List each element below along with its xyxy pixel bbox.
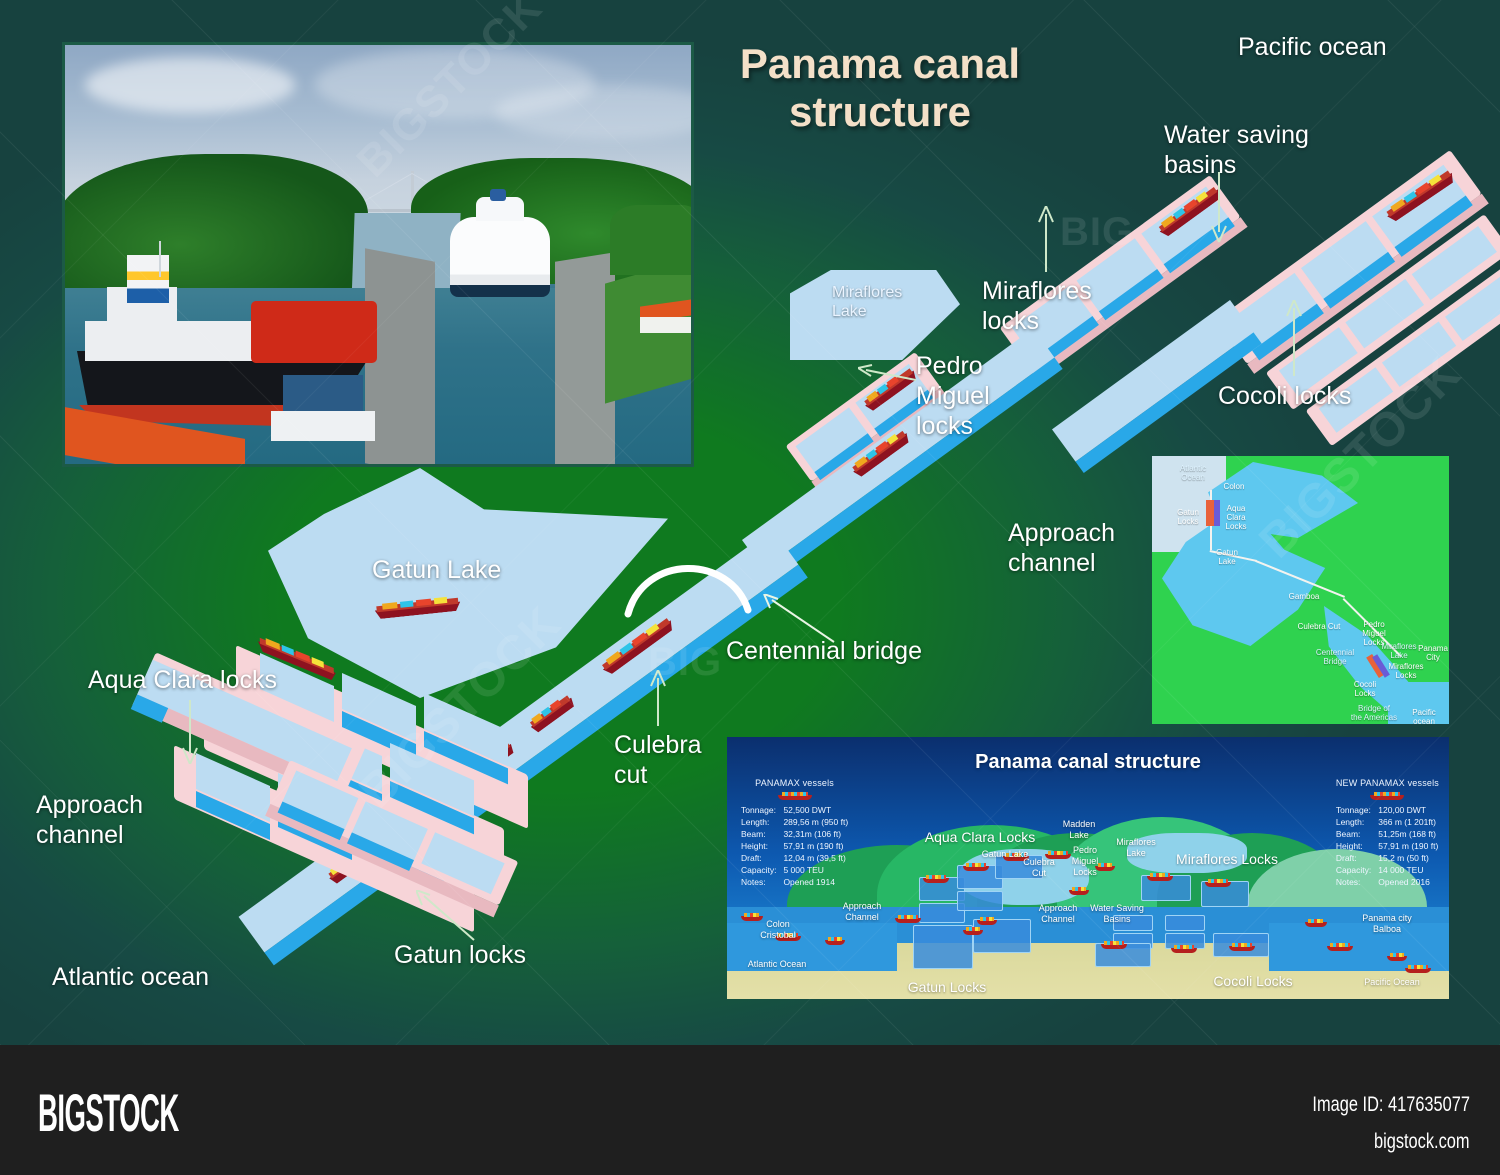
bottom-label-approach-channel-atlantic: ApproachChannel [831, 901, 893, 923]
page-title-line-1: Panama canal [700, 40, 1060, 88]
panamax-heading: PANAMAX vessels [741, 777, 848, 790]
spec-key: Beam: [741, 828, 783, 840]
spec-value: 57,91 m (190 ft) [783, 840, 848, 852]
bottom-label-pacific-ocean: Pacific Ocean [1351, 977, 1433, 988]
spec-key: Beam: [1336, 828, 1378, 840]
page-title-line-2: structure [700, 88, 1060, 136]
spec-key: Tonnage: [1336, 804, 1378, 816]
label-centennial-bridge: Centennial bridge [726, 636, 922, 666]
spec-value: Opened 2016 [1378, 876, 1438, 888]
map-label-pacific-ocean: Pacificocean [1404, 708, 1444, 724]
label-miraflores-locks: Mirafloreslocks [982, 276, 1092, 336]
map-label-panama-city: PanamaCity [1416, 644, 1449, 662]
label-gatun-lake: Gatun Lake [372, 555, 501, 585]
bottom-inset-title: Panama canal structure [727, 751, 1449, 774]
page-title: Panama canal structure [700, 40, 1060, 136]
poster-canvas: Panama canal structure [0, 0, 1500, 1175]
infographic-poster: Panama canal structure [0, 0, 1500, 1045]
panama-canal-photo [62, 42, 694, 467]
map-label-miraflores-locks: MirafloresLocks [1380, 662, 1432, 680]
new-panamax-spec-table: Tonnage:120,00 DWT Length:366 m (1 201ft… [1336, 804, 1438, 888]
ship [1327, 943, 1353, 951]
ship [977, 917, 997, 925]
miraflores-locks-arrow [1036, 206, 1056, 272]
spec-key: Draft: [1336, 852, 1378, 864]
spec-key: Capacity: [1336, 864, 1378, 876]
bottom-label-water-saving-basins: Water SavingBasins [1079, 903, 1155, 925]
ship [1069, 887, 1089, 895]
spec-row: Height:57,91 m (190 ft) [1336, 840, 1438, 852]
map-label-atlantic-ocean: AtlanticOcean [1168, 464, 1218, 482]
label-gatun-locks: Gatun locks [394, 940, 526, 970]
spec-value: 57,91 m (190 ft) [1378, 840, 1438, 852]
spec-row: Draft:15,2 m (50 ft) [1336, 852, 1438, 864]
new-panamax-ship-icon [1370, 792, 1404, 800]
ship [1101, 941, 1127, 949]
ship [895, 915, 921, 923]
map-label-aqua-clara-locks: AquaClaraLocks [1214, 504, 1258, 532]
panamax-spec-box: PANAMAX vessels Tonnage:52,500 DWT Lengt… [741, 777, 848, 888]
footer-bar: BIGSTOCK Image ID: 417635077 bigstock.co… [0, 1045, 1500, 1175]
spec-row: Beam:32,31m (106 ft) [741, 828, 848, 840]
map-label-bridge-of-the-americas: Bridge ofthe Americas [1348, 704, 1400, 722]
spec-key: Notes: [1336, 876, 1378, 888]
map-label-gamboa: Gamboa [1280, 592, 1328, 601]
spec-row: Beam:51,25m (168 ft) [1336, 828, 1438, 840]
spec-row: Length:366 m (1 201ft) [1336, 816, 1438, 828]
map-label-culebra-cut: Culebra Cut [1288, 622, 1350, 631]
spec-key: Length: [1336, 816, 1378, 828]
water-saving-basin [1165, 915, 1205, 931]
bottom-label-culebra-cut: CulebraCut [1017, 857, 1061, 879]
spec-value: Opened 1914 [783, 876, 848, 888]
panama-canal-profile-inset: Panama canal structure PANAMAX vessels [727, 737, 1449, 999]
new-panamax-heading: NEW PANAMAX vessels [1336, 777, 1439, 790]
new-panamax-spec-box: NEW PANAMAX vessels Tonnage:120,00 DWT L… [1336, 777, 1439, 888]
spec-row: Capacity:14 000 TEU [1336, 864, 1438, 876]
label-water-saving-basins: Water savingbasins [1164, 120, 1309, 180]
ship [1229, 943, 1255, 951]
panamax-ship-icon [778, 792, 812, 800]
bottom-label-aqua-clara-locks: Aqua Clara Locks [885, 829, 1075, 846]
photo-building [640, 317, 692, 333]
map-label-gatun-lake: GatunLake [1206, 548, 1248, 566]
bigstock-logo: BIGSTOCK [38, 1083, 179, 1144]
bottom-label-colon-cristobal: ColonCristobal [747, 919, 809, 941]
ship [963, 927, 983, 935]
label-aqua-clara-locks: Aqua Clara locks [88, 665, 277, 695]
photo-dock-shed [283, 375, 363, 411]
panamax-spec-rows: Tonnage:52,500 DWT Length:289,56 m (950 … [741, 804, 848, 888]
spec-key: Capacity: [741, 864, 783, 876]
bottom-label-madden-lake: MaddenLake [1053, 819, 1105, 841]
new-panamax-spec-rows: Tonnage:120,00 DWT Length:366 m (1 201ft… [1336, 804, 1438, 888]
spec-value: 289,56 m (950 ft) [783, 816, 848, 828]
spec-row: Notes:Opened 1914 [741, 876, 848, 888]
map-label-centennial-bridge: CentennialBridge [1310, 648, 1360, 666]
map-label-colon: Colon [1208, 482, 1260, 491]
spec-row: Height:57,91 m (190 ft) [741, 840, 848, 852]
image-id-text: Image ID: 417635077 [1312, 1093, 1470, 1117]
label-approach-channel-pacific: Approachchannel [1008, 518, 1115, 578]
ship [963, 863, 989, 871]
panama-region-map-inset: AtlanticOcean Colon AquaClaraLocks Gatun… [1152, 456, 1449, 724]
spec-value: 51,25m (168 ft) [1378, 828, 1438, 840]
spec-row: Length:289,56 m (950 ft) [741, 816, 848, 828]
label-cocoli-locks: Cocoli locks [1218, 381, 1351, 411]
photo-dock-structure [271, 411, 375, 441]
spec-row: Tonnage:52,500 DWT [741, 804, 848, 816]
label-atlantic-ocean: Atlantic ocean [52, 962, 209, 992]
spec-key: Length: [741, 816, 783, 828]
label-culebra-cut: Culebracut [614, 730, 702, 790]
bottom-label-atlantic-ocean: Atlantic Ocean [733, 959, 821, 970]
spec-row: Capacity:5 000 TEU [741, 864, 848, 876]
ship [825, 937, 845, 945]
lock-chamber [957, 891, 1003, 911]
ship [923, 875, 949, 883]
ship [1171, 945, 1197, 953]
spec-key: Draft: [741, 852, 783, 864]
label-miraflores-lake: MirafloresLake [832, 283, 902, 321]
ship [1405, 965, 1431, 973]
photo-cruise-ship [450, 193, 550, 301]
ship [1205, 879, 1231, 887]
label-pedro-miguel-locks: PedroMiguellocks [916, 351, 990, 441]
spec-key: Height: [1336, 840, 1378, 852]
label-approach-channel-atlantic: Approachchannel [36, 790, 143, 850]
spec-row: Tonnage:120,00 DWT [1336, 804, 1438, 816]
photo-cloud [85, 57, 295, 113]
bottom-label-panama-city-balboa: Panama cityBalboa [1347, 913, 1427, 935]
spec-key: Height: [741, 840, 783, 852]
spec-row: Notes:Opened 2016 [1336, 876, 1438, 888]
spec-value: 120,00 DWT [1378, 804, 1438, 816]
ship [1147, 873, 1173, 881]
spec-key: Notes: [741, 876, 783, 888]
spec-value: 32,31m (106 ft) [783, 828, 848, 840]
spec-value: 15,2 m (50 ft) [1378, 852, 1438, 864]
ship [1305, 919, 1327, 927]
map-label-cocoli-locks: CocoliLocks [1344, 680, 1386, 698]
bottom-label-gatun-locks: Gatun Locks [867, 979, 1027, 996]
spec-key: Tonnage: [741, 804, 783, 816]
label-pacific-ocean: Pacific ocean [1238, 32, 1387, 62]
spec-value: 5 000 TEU [783, 864, 848, 876]
ship [1387, 953, 1407, 961]
panamax-spec-table: Tonnage:52,500 DWT Length:289,56 m (950 … [741, 804, 848, 888]
photo-trees-right [610, 205, 694, 275]
spec-value: 52,500 DWT [783, 804, 848, 816]
map-label-gatun-locks: GatunLocks [1168, 508, 1208, 526]
site-domain-text: bigstock.com [1374, 1130, 1470, 1154]
bottom-label-cocoli-locks: Cocoli Locks [1173, 973, 1333, 990]
spec-row: Draft:12,04 m (39,5 ft) [741, 852, 848, 864]
spec-value: 14 000 TEU [1378, 864, 1438, 876]
spec-value: 12,04 m (39,5 ft) [783, 852, 848, 864]
bottom-label-pedro-miguel-locks: PedroMiguelLocks [1063, 845, 1107, 877]
spec-value: 366 m (1 201ft) [1378, 816, 1438, 828]
bottom-label-miraflores-locks: Miraflores Locks [1139, 851, 1315, 868]
